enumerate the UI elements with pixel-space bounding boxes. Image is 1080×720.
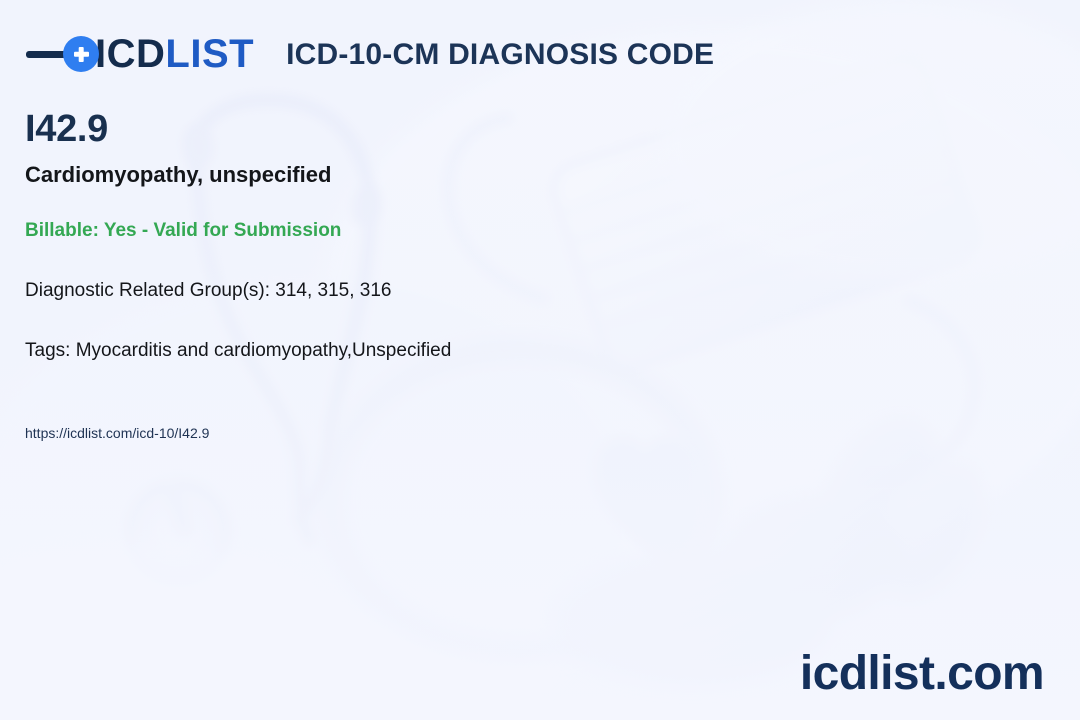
plus-icon: [73, 46, 90, 63]
billable-status: Billable: Yes - Valid for Submission: [25, 220, 1055, 243]
icd-code-card: ICDLIST ICD-10-CM DIAGNOSIS CODE I42.9 C…: [0, 0, 1080, 720]
diagnostic-related-groups: Diagnostic Related Group(s): 314, 315, 3…: [25, 280, 1055, 303]
code-details: I42.9 Cardiomyopathy, unspecified Billab…: [25, 110, 1055, 441]
diagnosis-code: I42.9: [25, 110, 1055, 150]
diagnosis-description: Cardiomyopathy, unspecified: [25, 162, 1055, 188]
icdlist-logo[interactable]: ICDLIST: [26, 31, 254, 77]
header: ICDLIST ICD-10-CM DIAGNOSIS CODE: [26, 26, 1054, 82]
tags-line: Tags: Myocarditis and cardiomyopathy,Uns…: [25, 340, 1055, 363]
source-url[interactable]: https://icdlist.com/icd-10/I42.9: [25, 425, 1055, 442]
plus-circle-icon: [63, 36, 99, 72]
logo-word-icd: ICD: [95, 32, 165, 76]
logo-wordmark: ICDLIST: [95, 34, 254, 74]
logo-word-list: LIST: [165, 32, 254, 76]
site-watermark: icdlist.com: [800, 650, 1044, 698]
page-title: ICD-10-CM DIAGNOSIS CODE: [286, 40, 714, 70]
